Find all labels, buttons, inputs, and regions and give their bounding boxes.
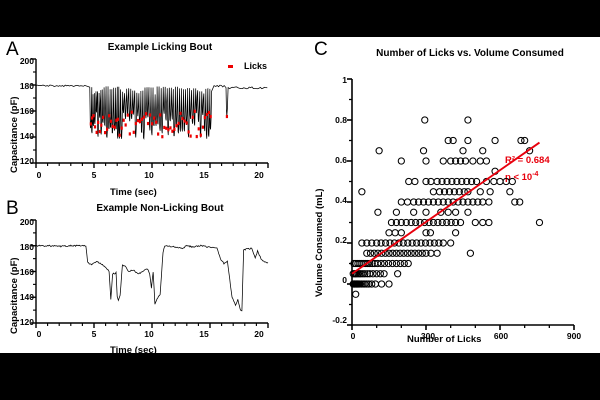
panel-b: B Example Non-Licking Bout Capacitance (…: [0, 199, 300, 353]
figure-canvas: A Example Licking Bout Capacitance (pF) …: [0, 37, 600, 353]
panel-a: A Example Licking Bout Capacitance (pF) …: [0, 37, 300, 207]
panel-c-plot: [300, 37, 600, 353]
panel-a-plot: [0, 37, 300, 207]
panel-c: C Number of Licks vs. Volume Consumed Vo…: [300, 37, 600, 353]
panel-b-plot: [0, 199, 300, 353]
